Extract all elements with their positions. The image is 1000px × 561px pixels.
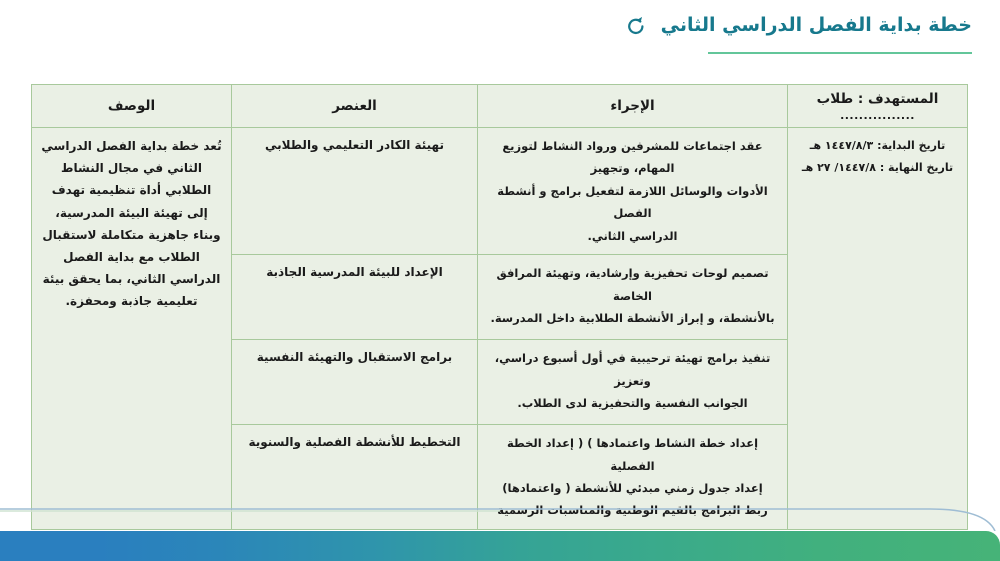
cell-procedure: عقد اجتماعات للمشرفين ورواد النشاط لتوزي… bbox=[478, 128, 788, 255]
cell-procedure: تنفيذ برامج تهيئة ترحيبية في أول أسبوع د… bbox=[478, 340, 788, 425]
target-start-date: تاريخ البداية: ١٤٤٧/٨/٣ هـ bbox=[797, 135, 958, 157]
procedure-line: بالأنشطة، و إبراز الأنشطة الطلابية داخل … bbox=[487, 307, 778, 329]
procedure-line: الجوانب النفسية والتحفيزية لدى الطلاب. bbox=[487, 392, 778, 414]
procedure-line: تنفيذ برامج تهيئة ترحيبية في أول أسبوع د… bbox=[487, 347, 778, 392]
page-header: خطة بداية الفصل الدراسي الثاني bbox=[625, 14, 972, 37]
target-end-date: تاريخ النهاية : ١٤٤٧/٨/ ٢٧ هـ bbox=[797, 157, 958, 179]
table-body: تاريخ البداية: ١٤٤٧/٨/٣ هـ تاريخ النهاية… bbox=[32, 128, 968, 530]
procedure-line: الدراسي الثاني. bbox=[487, 225, 778, 247]
procedure-line: ربط البرامج بالقيم الوطنية والمناسبات ال… bbox=[487, 499, 778, 521]
column-header-element: العنصر bbox=[232, 85, 478, 128]
refresh-circular-arrow-icon[interactable] bbox=[625, 14, 647, 36]
procedure-line: إعداد جدول زمني مبدئي للأنشطة ( واعتماده… bbox=[487, 477, 778, 499]
cell-procedure: تصميم لوحات تحفيزية وإرشادية، وتهيئة الم… bbox=[478, 255, 788, 340]
page-title: خطة بداية الفصل الدراسي الثاني bbox=[661, 14, 972, 37]
column-header-procedure: الإجراء bbox=[478, 85, 788, 128]
column-header-description: الوصف bbox=[32, 85, 232, 128]
slide-canvas: خطة بداية الفصل الدراسي الثاني المست bbox=[0, 0, 1000, 561]
cell-target-dates: تاريخ البداية: ١٤٤٧/٨/٣ هـ تاريخ النهاية… bbox=[788, 128, 968, 530]
table-row: تاريخ البداية: ١٤٤٧/٨/٣ هـ تاريخ النهاية… bbox=[32, 128, 968, 255]
procedure-line: تصميم لوحات تحفيزية وإرشادية، وتهيئة الم… bbox=[487, 262, 778, 307]
procedure-line: إعداد خطة النشاط واعتمادها ) ( إعداد الخ… bbox=[487, 432, 778, 477]
column-header-target-label: المستهدف : طلاب bbox=[817, 91, 939, 108]
column-header-target: المستهدف : طلاب ................ bbox=[788, 85, 968, 128]
column-header-target-dots: ................ bbox=[840, 110, 915, 121]
cell-description: تُعد خطة بداية الفصل الدراسي الثاني في م… bbox=[32, 128, 232, 530]
cell-element: برامج الاستقبال والتهيئة النفسية bbox=[232, 340, 478, 425]
procedure-line: عقد اجتماعات للمشرفين ورواد النشاط لتوزي… bbox=[487, 135, 778, 180]
cell-element: التخطيط للأنشطة الفصلية والسنوية bbox=[232, 425, 478, 530]
plan-table-container: المستهدف : طلاب ................ الإجراء… bbox=[32, 84, 968, 530]
footer-gradient-bar bbox=[0, 531, 1000, 561]
table-header-row: المستهدف : طلاب ................ الإجراء… bbox=[32, 85, 968, 128]
title-underline bbox=[708, 52, 972, 54]
cell-element: تهيئة الكادر التعليمي والطلابي bbox=[232, 128, 478, 255]
cell-procedure: إعداد خطة النشاط واعتمادها ) ( إعداد الخ… bbox=[478, 425, 788, 530]
plan-table: المستهدف : طلاب ................ الإجراء… bbox=[31, 84, 968, 530]
cell-element: الإعداد للبيئة المدرسية الجاذبة bbox=[232, 255, 478, 340]
procedure-line: الأدوات والوسائل اللازمة لتفعيل برامج و … bbox=[487, 180, 778, 225]
